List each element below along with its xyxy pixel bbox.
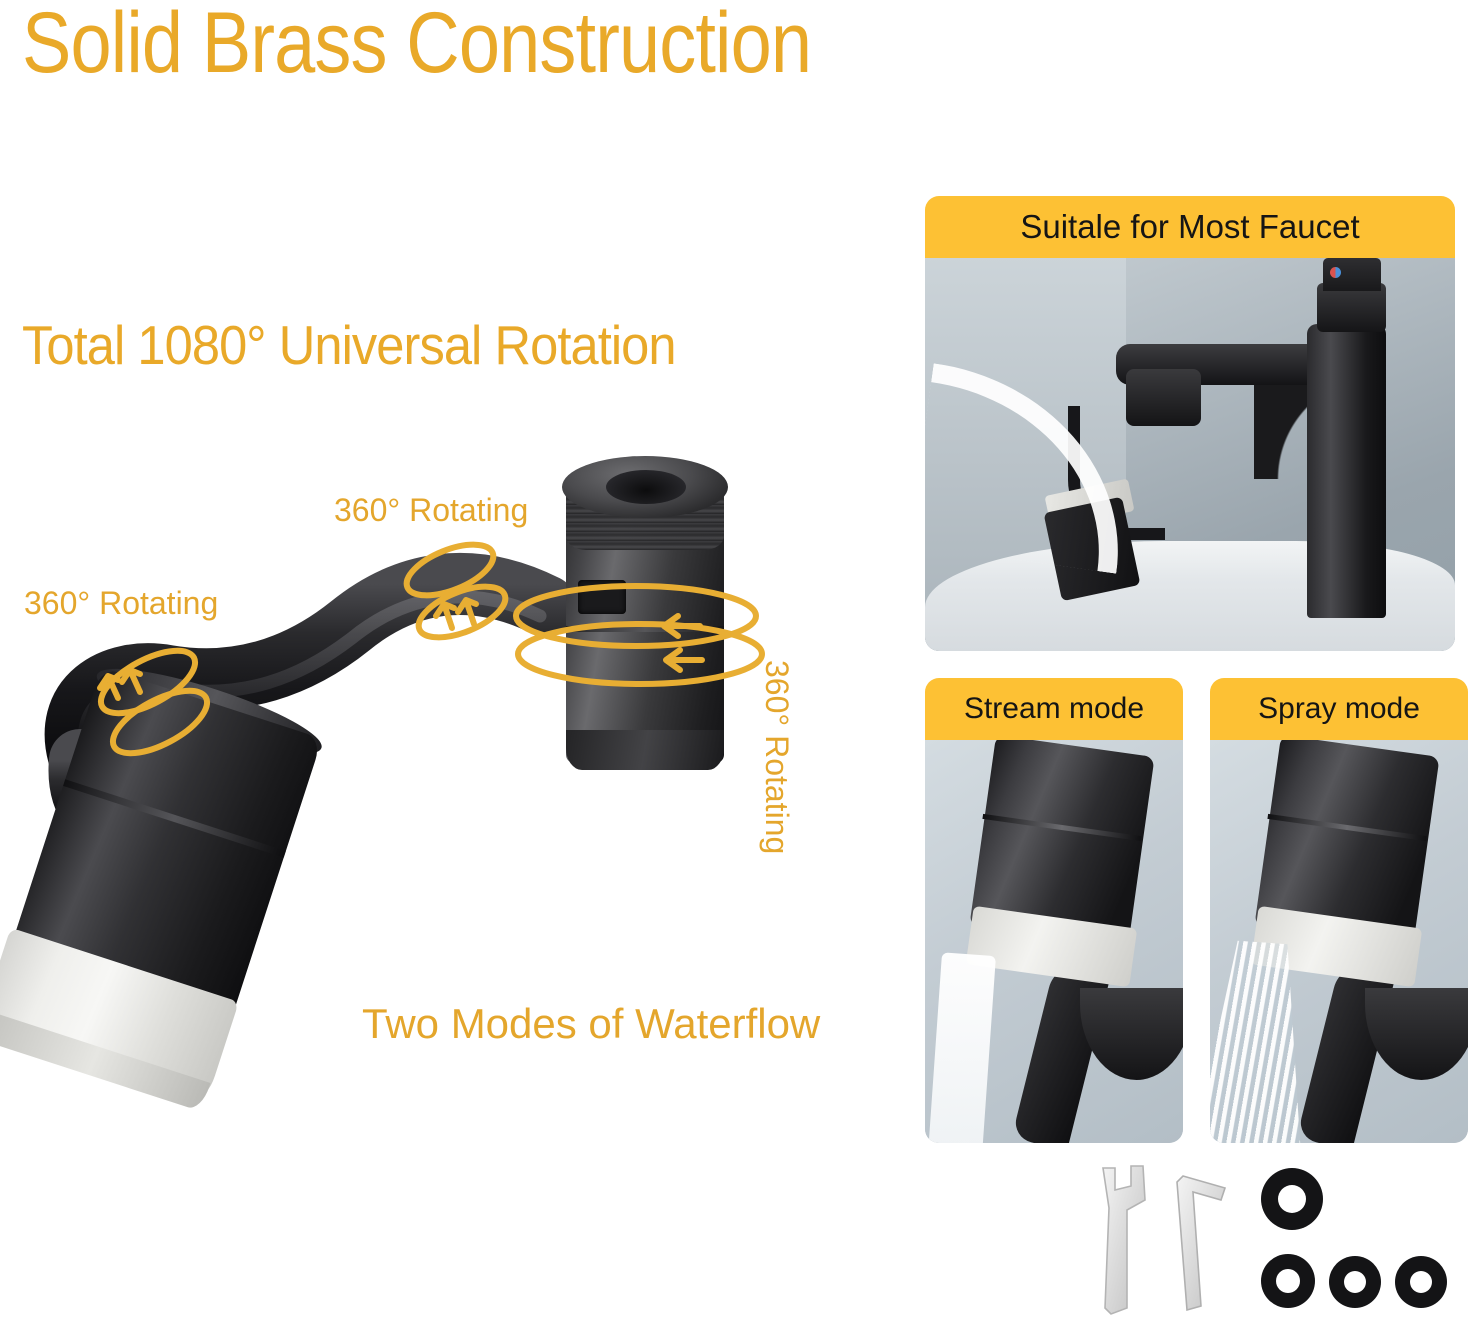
hex-key-icon (1177, 1176, 1225, 1310)
panel-spray-mode: Spray mode (1210, 678, 1468, 1143)
callout-rotate-top: 360° Rotating (334, 492, 528, 529)
callout-rotate-vertical: 360° Rotating (758, 660, 795, 854)
o-ring-small (1329, 1256, 1381, 1308)
o-ring-small (1261, 1254, 1315, 1308)
o-ring-large (1261, 1168, 1323, 1230)
panel-stream-mode: Stream mode (925, 678, 1183, 1143)
panel-suitable-for-most-faucet: Suitale for Most Faucet (925, 196, 1455, 651)
faucet-column (1307, 324, 1387, 618)
panel-stream-label: Stream mode (925, 678, 1183, 740)
callout-two-modes-waterflow: Two Modes of Waterflow (362, 1000, 820, 1048)
panel-spray-photo (1210, 724, 1468, 1143)
page-subtitle: Total 1080° Universal Rotation (22, 313, 676, 377)
panel-faucet-photo (925, 242, 1455, 651)
spanner-wrench-icon (1103, 1166, 1145, 1314)
panel-stream-photo (925, 724, 1183, 1143)
panel-spray-label: Spray mode (1210, 678, 1468, 740)
accessories-group (1075, 1160, 1465, 1320)
o-ring-small (1395, 1256, 1447, 1308)
panel-faucet-label: Suitale for Most Faucet (925, 196, 1455, 258)
callout-rotate-left: 360° Rotating (24, 585, 218, 622)
page-title: Solid Brass Construction (22, 0, 811, 93)
